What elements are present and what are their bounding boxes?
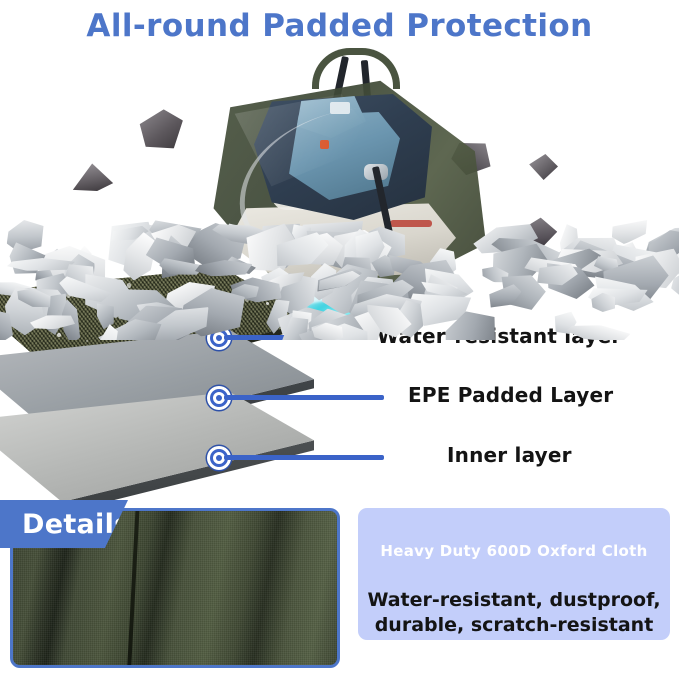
callout-line [224,395,384,400]
details-section: Details [10,508,340,668]
infographic-page: All-round Padded Protection [0,0,679,679]
debris-chunk-icon [135,107,186,153]
layer-label-inner: Inner layer [447,443,572,467]
layer-label-epe-padded: EPE Padded Layer [408,383,613,407]
debris-chunk-icon [72,163,114,191]
details-body-line-2: durable, scratch-resistant [358,613,670,638]
rubble-rock [609,215,654,247]
bag-handle [312,48,400,89]
details-body-line-1: Water-resistant, dustproof, [358,588,670,613]
details-headline: Heavy Duty 600D Oxford Cloth [358,542,670,560]
debris-chunk-icon [528,154,558,180]
water-droplet-icon [266,302,269,305]
layer-slab-inner [0,392,314,502]
callout-line [224,455,384,460]
page-title: All-round Padded Protection [0,8,679,44]
details-body: Water-resistant, dustproof, durable, scr… [358,588,670,638]
